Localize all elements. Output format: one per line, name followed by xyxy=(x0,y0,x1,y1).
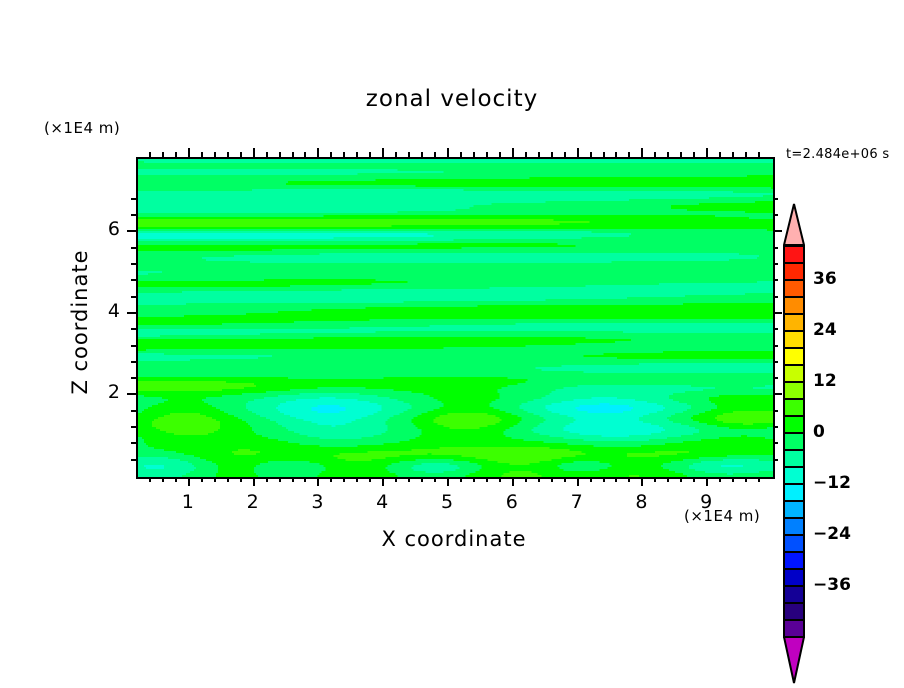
x-tick-major-top xyxy=(188,148,190,157)
x-tick-minor-top xyxy=(486,152,488,157)
y-tick-minor xyxy=(131,345,136,347)
x-tick-minor-top xyxy=(356,152,358,157)
x-tick-major-top xyxy=(382,148,384,157)
x-tick-major xyxy=(512,477,514,486)
x-tick-minor-top xyxy=(421,152,423,157)
x-tick-minor xyxy=(330,477,332,482)
x-tick-minor-top xyxy=(693,152,695,157)
colorbar-over-arrow xyxy=(783,203,805,245)
x-tick-minor-top xyxy=(266,152,268,157)
y-tick-minor xyxy=(131,328,136,330)
x-tick-minor-top xyxy=(343,152,345,157)
x-tick-minor xyxy=(227,477,229,482)
x-tick-minor-top xyxy=(227,152,229,157)
y-tick-label: 6 xyxy=(80,218,120,240)
y-axis-unit-label: (×1E4 m) xyxy=(44,119,120,137)
y-tick-minor-right xyxy=(773,410,778,412)
y-tick-minor xyxy=(131,198,136,200)
x-tick-major xyxy=(641,477,643,486)
x-tick-minor xyxy=(214,477,216,482)
x-tick-minor-top xyxy=(551,152,553,157)
x-tick-minor-top xyxy=(628,152,630,157)
y-tick-minor xyxy=(131,247,136,249)
x-tick-major-top xyxy=(706,148,708,157)
y-tick-minor-right xyxy=(773,279,778,281)
x-tick-minor xyxy=(175,477,177,482)
x-tick-minor xyxy=(395,477,397,482)
y-tick-minor-right xyxy=(773,377,778,379)
y-tick-minor xyxy=(131,296,136,298)
y-tick-minor-right xyxy=(773,328,778,330)
x-tick-minor-top xyxy=(214,152,216,157)
x-tick-minor-top xyxy=(240,152,242,157)
x-tick-major xyxy=(382,477,384,486)
x-tick-minor xyxy=(304,477,306,482)
x-tick-minor xyxy=(551,477,553,482)
y-tick-minor-right xyxy=(773,198,778,200)
x-tick-minor xyxy=(356,477,358,482)
x-tick-minor xyxy=(408,477,410,482)
x-tick-minor-top xyxy=(149,152,151,157)
x-tick-minor xyxy=(266,477,268,482)
x-tick-minor-top xyxy=(667,152,669,157)
x-tick-minor-top xyxy=(719,152,721,157)
x-tick-minor-top xyxy=(745,152,747,157)
x-tick-minor xyxy=(590,477,592,482)
x-tick-minor xyxy=(369,477,371,482)
x-tick-major xyxy=(253,477,255,486)
y-tick-minor-right xyxy=(773,426,778,428)
x-tick-major-top xyxy=(577,148,579,157)
x-tick-minor-top xyxy=(201,152,203,157)
colorbar-tick-label: 36 xyxy=(813,269,837,289)
x-tick-minor-top xyxy=(499,152,501,157)
y-tick-major xyxy=(127,393,136,395)
y-tick-minor-right xyxy=(773,247,778,249)
x-tick-minor xyxy=(564,477,566,482)
y-tick-major-right xyxy=(773,393,782,395)
figure-canvas: zonal velocity (×1E4 m) (×1E4 m) t=2.484… xyxy=(0,0,904,654)
x-tick-minor-top xyxy=(279,152,281,157)
x-tick-label: 3 xyxy=(297,491,337,513)
x-tick-minor-top xyxy=(460,152,462,157)
x-tick-major xyxy=(188,477,190,486)
x-tick-minor-top xyxy=(395,152,397,157)
x-tick-minor xyxy=(343,477,345,482)
x-tick-minor-top xyxy=(615,152,617,157)
x-tick-major-top xyxy=(253,148,255,157)
colorbar-tick-label: −36 xyxy=(813,575,851,595)
x-tick-minor xyxy=(732,477,734,482)
x-tick-minor xyxy=(292,477,294,482)
y-tick-minor-right xyxy=(773,459,778,461)
chart-title: zonal velocity xyxy=(0,86,904,112)
y-tick-minor-right xyxy=(773,296,778,298)
x-tick-minor-top xyxy=(330,152,332,157)
y-tick-minor xyxy=(131,361,136,363)
x-tick-minor-top xyxy=(564,152,566,157)
x-tick-minor xyxy=(680,477,682,482)
colorbar-tick-label: 24 xyxy=(813,320,837,340)
x-tick-minor-top xyxy=(603,152,605,157)
x-tick-minor-top xyxy=(434,152,436,157)
colorbar-tick-label: −24 xyxy=(813,524,851,544)
x-tick-label: 5 xyxy=(427,491,467,513)
x-tick-major-top xyxy=(641,148,643,157)
x-tick-minor-top xyxy=(162,152,164,157)
x-tick-minor xyxy=(421,477,423,482)
y-tick-minor xyxy=(131,442,136,444)
colorbar-tick-label: 12 xyxy=(813,371,837,391)
x-tick-minor xyxy=(628,477,630,482)
colorbar-tick-label: 0 xyxy=(813,422,825,442)
colorbar-tick-label: −12 xyxy=(813,473,851,493)
colorbar-under-arrow xyxy=(783,636,805,684)
x-tick-minor xyxy=(279,477,281,482)
y-tick-minor xyxy=(131,377,136,379)
x-tick-minor-top xyxy=(680,152,682,157)
y-tick-minor xyxy=(131,459,136,461)
y-tick-minor-right xyxy=(773,361,778,363)
x-tick-label: 4 xyxy=(362,491,402,513)
x-tick-major xyxy=(577,477,579,486)
x-tick-minor xyxy=(460,477,462,482)
x-tick-minor xyxy=(162,477,164,482)
x-tick-minor xyxy=(603,477,605,482)
colorbar: 3624120−12−24−36 xyxy=(783,203,807,518)
y-tick-minor xyxy=(131,426,136,428)
x-tick-minor-top xyxy=(369,152,371,157)
y-tick-major-right xyxy=(773,230,782,232)
y-tick-minor-right xyxy=(773,442,778,444)
x-tick-minor xyxy=(719,477,721,482)
x-tick-minor-top xyxy=(590,152,592,157)
x-tick-minor-top xyxy=(408,152,410,157)
x-tick-label: 2 xyxy=(233,491,273,513)
x-tick-minor xyxy=(693,477,695,482)
x-tick-minor-top xyxy=(175,152,177,157)
y-tick-major xyxy=(127,312,136,314)
y-tick-minor-right xyxy=(773,345,778,347)
x-tick-major xyxy=(447,477,449,486)
x-tick-minor-top xyxy=(525,152,527,157)
y-tick-minor xyxy=(131,263,136,265)
x-tick-minor xyxy=(758,477,760,482)
x-tick-minor xyxy=(149,477,151,482)
x-tick-minor-top xyxy=(758,152,760,157)
x-tick-minor-top xyxy=(538,152,540,157)
x-tick-major-top xyxy=(317,148,319,157)
y-tick-label: 2 xyxy=(80,381,120,403)
x-tick-minor xyxy=(538,477,540,482)
x-tick-minor-top xyxy=(654,152,656,157)
x-tick-minor-top xyxy=(292,152,294,157)
timestamp-annotation: t=2.484e+06 s xyxy=(786,147,889,162)
y-tick-minor xyxy=(131,410,136,412)
x-tick-label: 7 xyxy=(557,491,597,513)
x-tick-minor xyxy=(667,477,669,482)
x-tick-minor xyxy=(473,477,475,482)
contour-plot-area xyxy=(136,157,775,479)
y-tick-minor-right xyxy=(773,263,778,265)
x-tick-label: 8 xyxy=(621,491,661,513)
y-tick-minor-right xyxy=(773,214,778,216)
y-tick-label: 4 xyxy=(80,300,120,322)
x-tick-minor xyxy=(654,477,656,482)
x-axis-title: X coordinate xyxy=(136,527,772,551)
x-tick-minor xyxy=(525,477,527,482)
x-tick-minor-top xyxy=(304,152,306,157)
y-tick-minor xyxy=(131,279,136,281)
y-tick-major xyxy=(127,230,136,232)
x-tick-label: 6 xyxy=(492,491,532,513)
x-tick-minor xyxy=(615,477,617,482)
x-tick-minor xyxy=(434,477,436,482)
x-tick-major xyxy=(706,477,708,486)
x-tick-minor-top xyxy=(473,152,475,157)
x-tick-minor-top xyxy=(732,152,734,157)
x-tick-minor xyxy=(240,477,242,482)
y-tick-minor xyxy=(131,214,136,216)
x-tick-label: 1 xyxy=(168,491,208,513)
x-tick-minor xyxy=(499,477,501,482)
x-tick-minor xyxy=(486,477,488,482)
y-tick-major-right xyxy=(773,312,782,314)
x-tick-major-top xyxy=(512,148,514,157)
x-tick-minor xyxy=(201,477,203,482)
x-tick-minor xyxy=(745,477,747,482)
x-tick-label: 9 xyxy=(686,491,726,513)
contour-field xyxy=(138,159,773,477)
x-tick-major xyxy=(317,477,319,486)
x-tick-major-top xyxy=(447,148,449,157)
